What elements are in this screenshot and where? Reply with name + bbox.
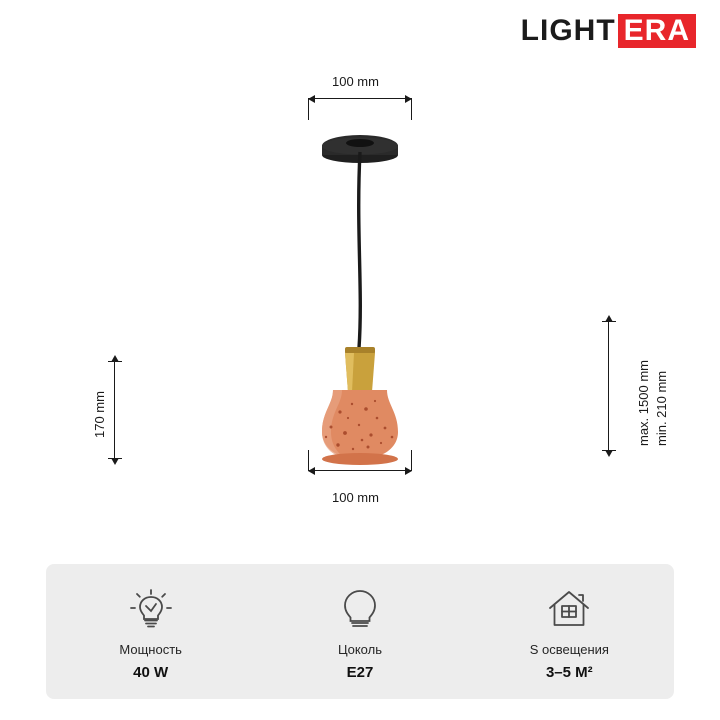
canopy-base <box>322 147 398 163</box>
spec-area-value: 3–5 М² <box>546 664 593 681</box>
brand-logo-light: LIGHT <box>521 14 616 48</box>
dimension-bottom-arrow-left <box>308 467 315 475</box>
dimension-top-tick-right <box>411 98 412 120</box>
specifications-panel: Мощность 40 W Цоколь E27 S освещения 3–5… <box>46 564 674 699</box>
dimension-left-height-label: 170 mm <box>92 391 107 438</box>
lamp-shade <box>322 390 398 459</box>
dimension-right-min-label: min. 210 mm <box>654 371 669 446</box>
spec-socket: Цоколь E27 <box>255 582 464 681</box>
dimension-left-arrow-down <box>111 458 119 465</box>
dimension-top-arrow-left <box>308 95 315 103</box>
canopy-body <box>322 135 398 155</box>
dimension-left-line <box>114 362 115 458</box>
spec-socket-title: Цоколь <box>338 642 382 657</box>
dimension-left-tick-bottom <box>108 458 122 459</box>
spec-area-title: S освещения <box>530 642 609 657</box>
dimension-bottom-width-label: 100 mm <box>332 490 379 505</box>
spec-power-value: 40 W <box>133 664 168 681</box>
dimension-bottom-tick-right <box>411 450 412 470</box>
spec-area: S освещения 3–5 М² <box>465 582 674 681</box>
socket-highlight <box>345 353 354 392</box>
dimension-bottom-tick-left <box>308 450 309 470</box>
dimension-top-tick-left <box>308 98 309 120</box>
brand-logo-era: ERA <box>618 14 696 48</box>
spec-power: Мощность 40 W <box>46 582 255 681</box>
brand-logo: LIGHT ERA <box>521 14 696 48</box>
socket-collar <box>345 347 375 354</box>
suspension-cable <box>359 152 361 348</box>
shade-speckles <box>325 400 394 450</box>
bulb-icon <box>334 582 386 634</box>
dimension-right-tick-bottom <box>602 450 616 451</box>
spec-socket-value: E27 <box>347 664 374 681</box>
lamp-shade-highlight <box>322 390 345 458</box>
dimension-bottom-line <box>308 470 412 471</box>
dimension-top-line <box>308 98 412 99</box>
dimension-top-width-label: 100 mm <box>332 74 379 89</box>
spec-power-title: Мощность <box>119 642 182 657</box>
canopy-cap <box>346 139 374 147</box>
dimension-left-tick-top <box>108 361 122 362</box>
dimension-right-arrow-down <box>605 450 613 457</box>
canopy-top <box>322 138 398 155</box>
dimension-right-tick-top <box>602 321 616 322</box>
dimension-right-line <box>608 322 609 450</box>
house-icon <box>543 582 595 634</box>
dimension-right-max-label: max. 1500 mm <box>636 360 651 446</box>
lamp-shade-bottom <box>322 453 398 465</box>
bulb-rays-icon <box>125 582 177 634</box>
socket-body <box>345 353 375 392</box>
